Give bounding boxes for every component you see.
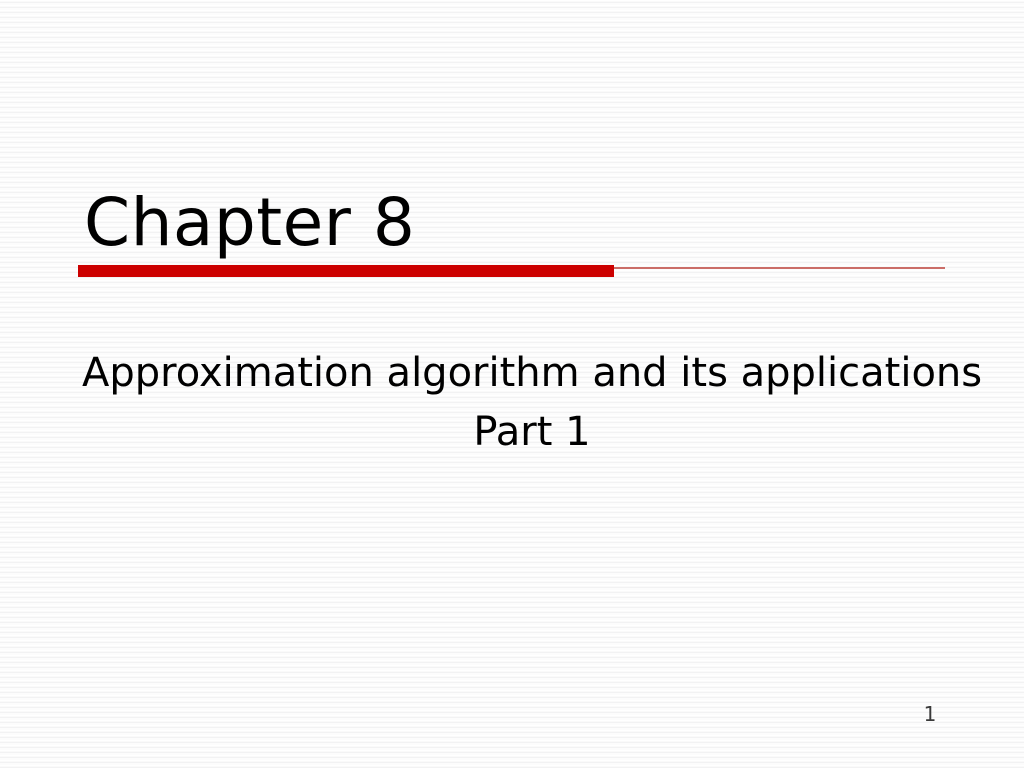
- slide-subtitle: Approximation algorithm and its applicat…: [82, 344, 982, 462]
- presentation-slide: Chapter 8 Approximation algorithm and it…: [0, 0, 1024, 768]
- slide-subtitle-line-2: Part 1: [82, 403, 982, 462]
- slide-title: Chapter 8: [84, 190, 415, 256]
- slide-page-number: 1: [900, 702, 960, 726]
- slide-subtitle-line-1: Approximation algorithm and its applicat…: [82, 344, 982, 403]
- title-underline-rule: [614, 267, 945, 269]
- title-underline-bar: [78, 265, 614, 277]
